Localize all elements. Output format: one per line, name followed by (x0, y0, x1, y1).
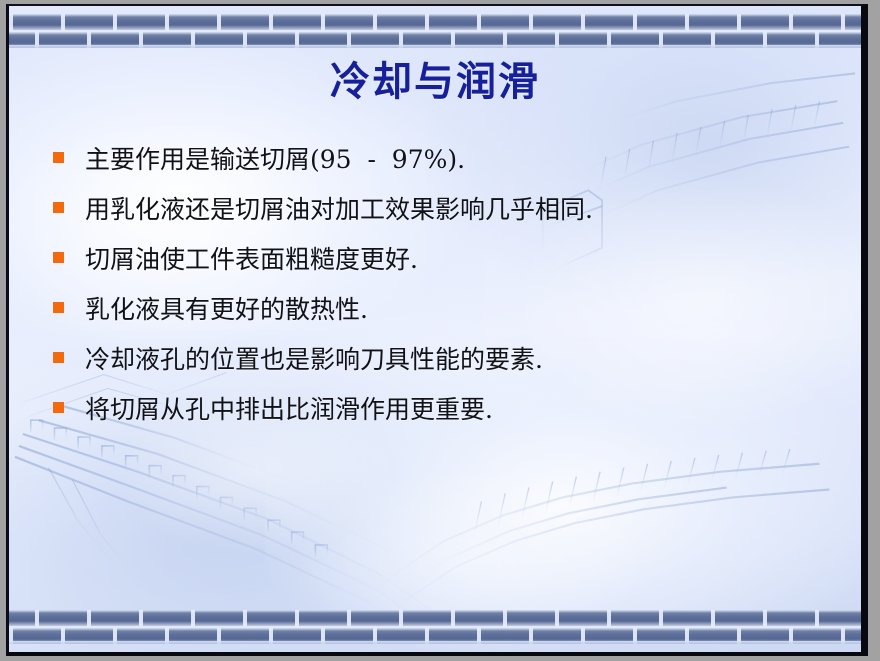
slide-title: 冷却与润滑 (9, 60, 861, 104)
square-bullet-icon (53, 252, 64, 263)
list-item: 乳化液具有更好的散热性. (53, 289, 821, 331)
square-bullet-icon (53, 152, 64, 163)
list-item: 主要作用是输送切屑(95 - 97%). (53, 139, 821, 181)
slide-frame: 冷却与润滑 主要作用是输送切屑(95 - 97%). 用乳化液还是切屑油对加工效… (0, 0, 880, 661)
bullet-text: 将切屑从孔中排出比润滑作用更重要. (85, 389, 821, 431)
list-item: 冷却液孔的位置也是影响刀具性能的要素. (53, 339, 821, 381)
list-item: 切屑油使工件表面粗糙度更好. (53, 239, 821, 281)
square-bullet-icon (53, 302, 64, 313)
bullet-text: 切屑油使工件表面粗糙度更好. (85, 239, 821, 281)
square-bullet-icon (53, 352, 64, 363)
bullet-text: 主要作用是输送切屑(95 - 97%). (85, 139, 821, 181)
slide-canvas: 冷却与润滑 主要作用是输送切屑(95 - 97%). 用乳化液还是切屑油对加工效… (6, 4, 868, 656)
slide-content: 冷却与润滑 主要作用是输送切屑(95 - 97%). 用乳化液还是切屑油对加工效… (9, 6, 861, 652)
square-bullet-icon (53, 402, 64, 413)
square-bullet-icon (53, 202, 64, 213)
bullet-text: 用乳化液还是切屑油对加工效果影响几乎相同. (85, 189, 821, 231)
list-item: 用乳化液还是切屑油对加工效果影响几乎相同. (53, 189, 821, 231)
bullet-text: 冷却液孔的位置也是影响刀具性能的要素. (85, 339, 821, 381)
list-item: 将切屑从孔中排出比润滑作用更重要. (53, 389, 821, 431)
bullet-list: 主要作用是输送切屑(95 - 97%). 用乳化液还是切屑油对加工效果影响几乎相… (53, 139, 821, 439)
bullet-text: 乳化液具有更好的散热性. (85, 289, 821, 331)
